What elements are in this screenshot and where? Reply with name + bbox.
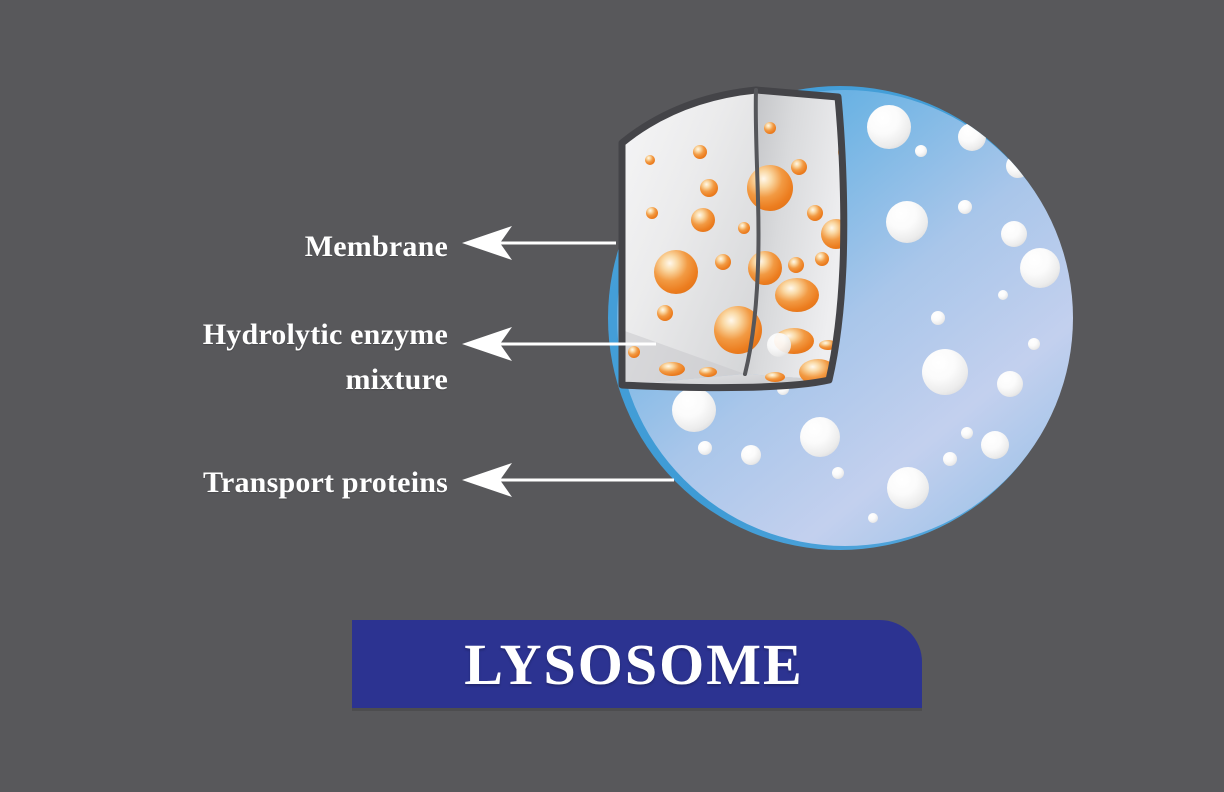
transport-protein [672,388,716,432]
hydrolytic-enzyme [807,205,823,221]
transport-protein [958,200,972,214]
hydrolytic-enzyme [775,278,819,312]
transport-protein [887,467,929,509]
hydrolytic-enzyme [699,367,717,377]
hydrolytic-enzyme [628,346,640,358]
transport-protein [1006,154,1030,178]
hydrolytic-enzyme [715,254,731,270]
transport-protein [1001,221,1027,247]
hydrolytic-enzyme [700,179,718,197]
transport-protein [832,467,844,479]
transport-protein [1020,248,1060,288]
transport-protein [867,105,911,149]
transport-protein [958,123,986,151]
hydrolytic-enzyme [791,159,807,175]
hydrolytic-enzyme [645,155,655,165]
transport-protein [698,441,712,455]
diagram-canvas: Membrane Hydrolytic enzyme mixture Trans… [0,0,1224,792]
transport-protein [961,427,973,439]
transport-protein [886,201,928,243]
label-hydrolytic-enzyme-mixture: Hydrolytic enzyme mixture [80,312,448,402]
hydrolytic-enzyme [788,257,804,273]
transport-protein [998,290,1008,300]
hydrolytic-enzyme [657,305,673,321]
title-banner: LYSOSOME [352,620,922,708]
hydrolytic-enzyme [764,122,776,134]
label-membrane: Membrane [120,224,448,269]
transport-protein [868,513,878,523]
hydrolytic-enzyme [693,145,707,159]
transport-protein [915,145,927,157]
page-title: LYSOSOME [352,620,922,708]
hydrolytic-enzyme [659,362,685,376]
transport-protein [943,452,957,466]
transport-protein [981,431,1009,459]
transport-protein [767,333,791,357]
hydrolytic-enzyme [738,222,750,234]
cutaway-wedge [622,90,874,388]
transport-protein [931,311,945,325]
transport-protein [997,371,1023,397]
hydrolytic-enzyme [815,252,829,266]
hydrolytic-enzyme [747,165,793,211]
hydrolytic-enzyme [691,208,715,232]
hydrolytic-enzyme [765,372,785,382]
transport-protein [741,445,761,465]
transport-protein [922,349,968,395]
label-transport-proteins: Transport proteins [100,460,448,505]
transport-protein [800,417,840,457]
hydrolytic-enzyme [646,207,658,219]
hydrolytic-enzyme [748,251,782,285]
transport-protein [1028,338,1040,350]
hydrolytic-enzyme [654,250,698,294]
